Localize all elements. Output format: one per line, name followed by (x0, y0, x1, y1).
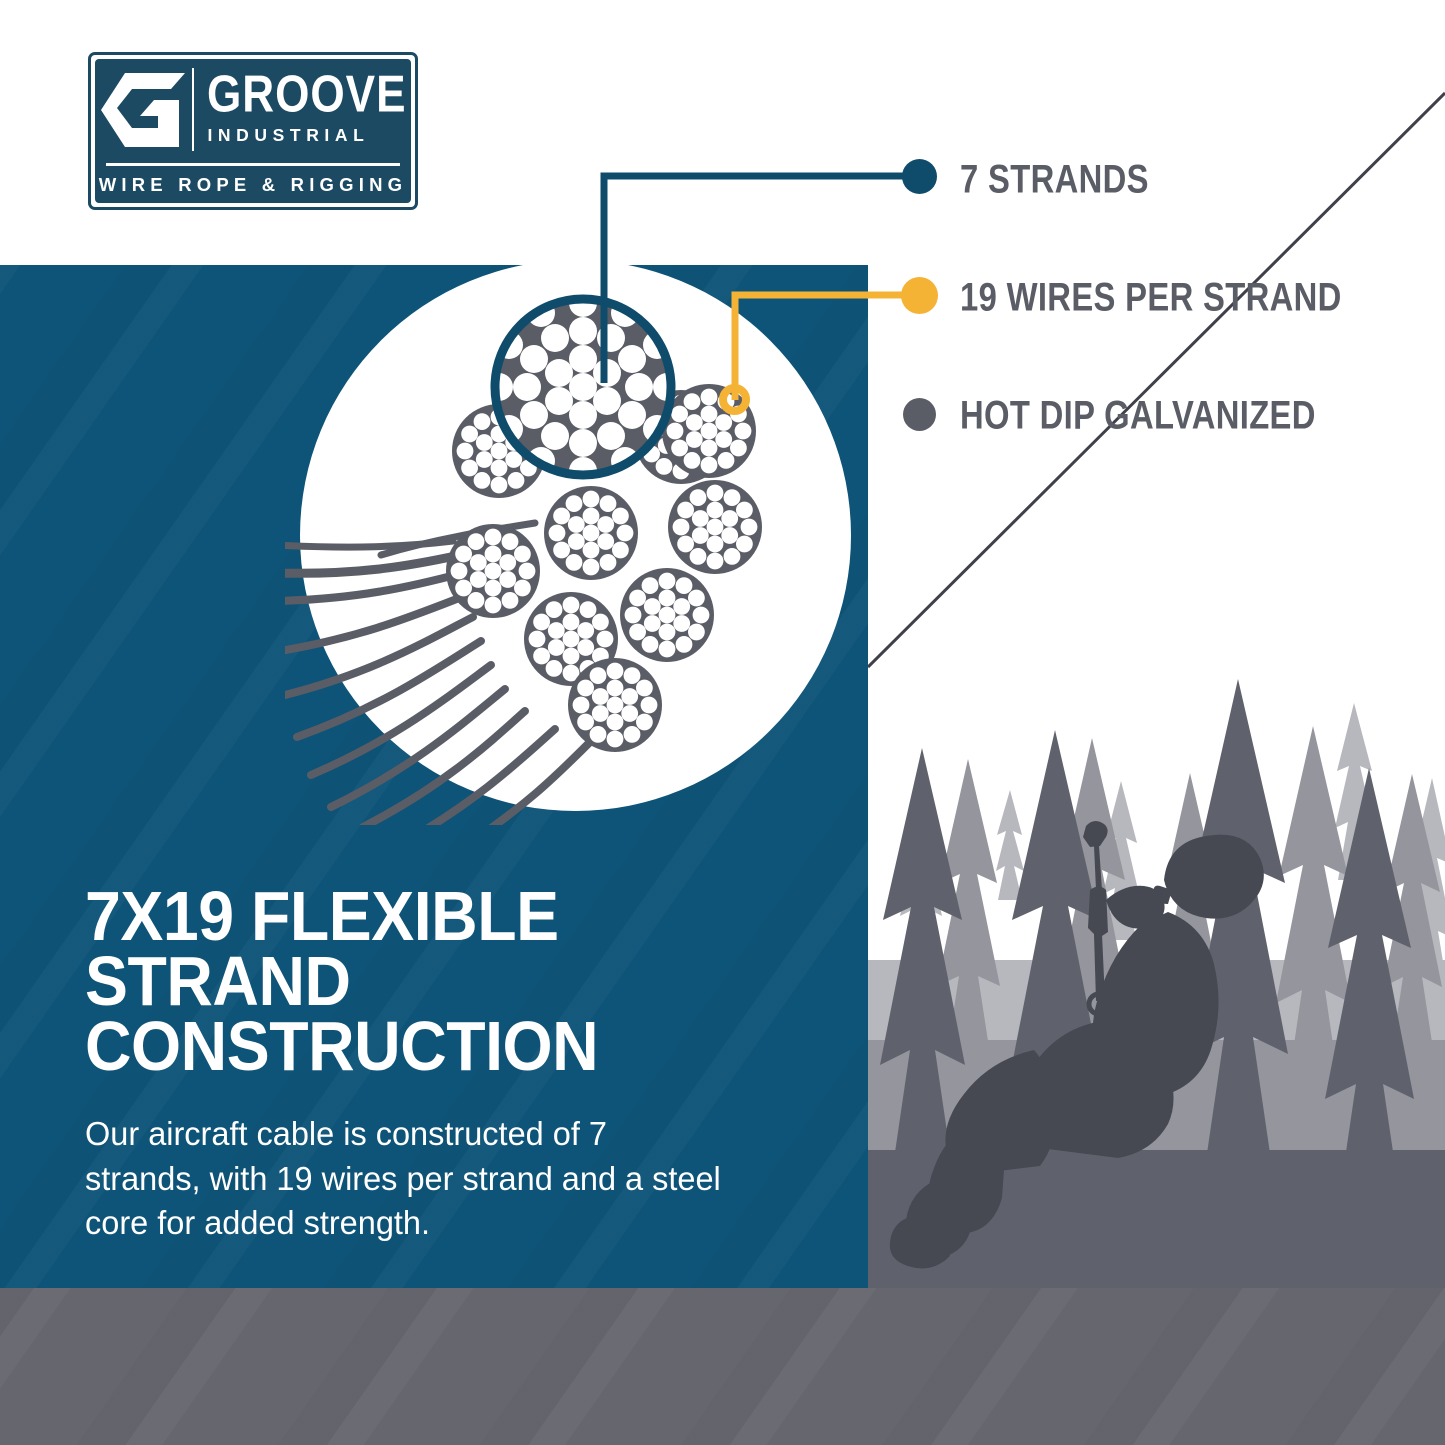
logo-inner-fill: GROOVE INDUSTRIAL WIRE ROPE & RIGGING (95, 59, 411, 203)
wire-rope-cross-section (285, 255, 885, 825)
footer-band (0, 1288, 1445, 1445)
logo-tagline-row: WIRE ROPE & RIGGING (95, 166, 411, 203)
title-line-2: STRAND CONSTRUCTION (85, 949, 784, 1079)
brand-logo[interactable]: GROOVE INDUSTRIAL WIRE ROPE & RIGGING (88, 52, 418, 210)
logo-tagline-text: WIRE ROPE & RIGGING (99, 174, 407, 196)
logo-subbrand-text: INDUSTRIAL (207, 125, 411, 146)
infographic-canvas: 7 STRANDS 19 WIRES PER STRAND HOT DIP GA… (0, 0, 1445, 1445)
logo-wordmark: GROOVE INDUSTRIAL (194, 59, 411, 160)
groove-g-mark-icon (95, 59, 192, 160)
page-title: 7X19 FLEXIBLE STRAND CONSTRUCTION (85, 884, 784, 1079)
body-paragraph: Our aircraft cable is constructed of 7 s… (85, 1113, 725, 1246)
zipline-scene-art (868, 0, 1445, 1288)
footer-stripe-texture (0, 1288, 1445, 1445)
logo-brand-text: GROOVE (207, 69, 406, 119)
zipline-scene (868, 0, 1445, 1288)
headline-block: 7X19 FLEXIBLE STRAND CONSTRUCTION Our ai… (85, 884, 845, 1246)
logo-top-row: GROOVE INDUSTRIAL (95, 59, 411, 160)
